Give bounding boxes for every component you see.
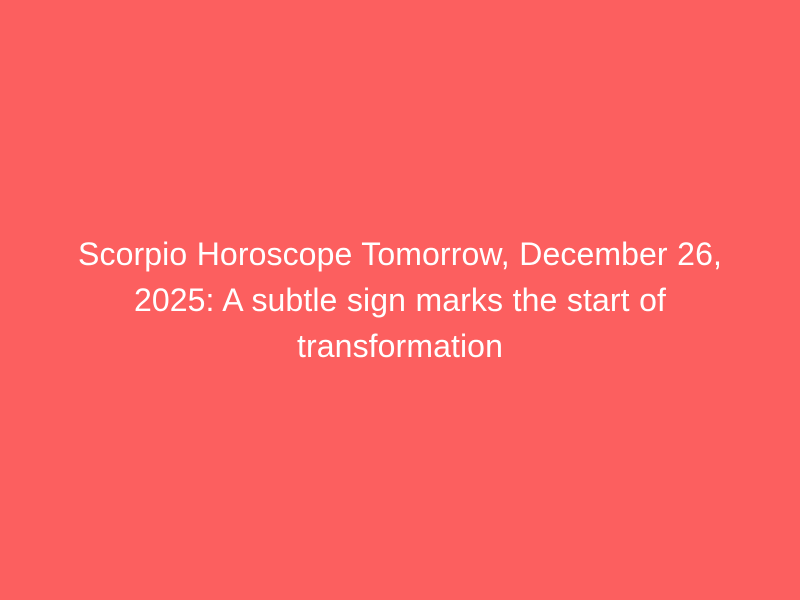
preview-card: Scorpio Horoscope Tomorrow, December 26,… <box>0 0 800 600</box>
headline-block: Scorpio Horoscope Tomorrow, December 26,… <box>50 231 750 369</box>
headline-text: Scorpio Horoscope Tomorrow, December 26,… <box>60 231 740 369</box>
